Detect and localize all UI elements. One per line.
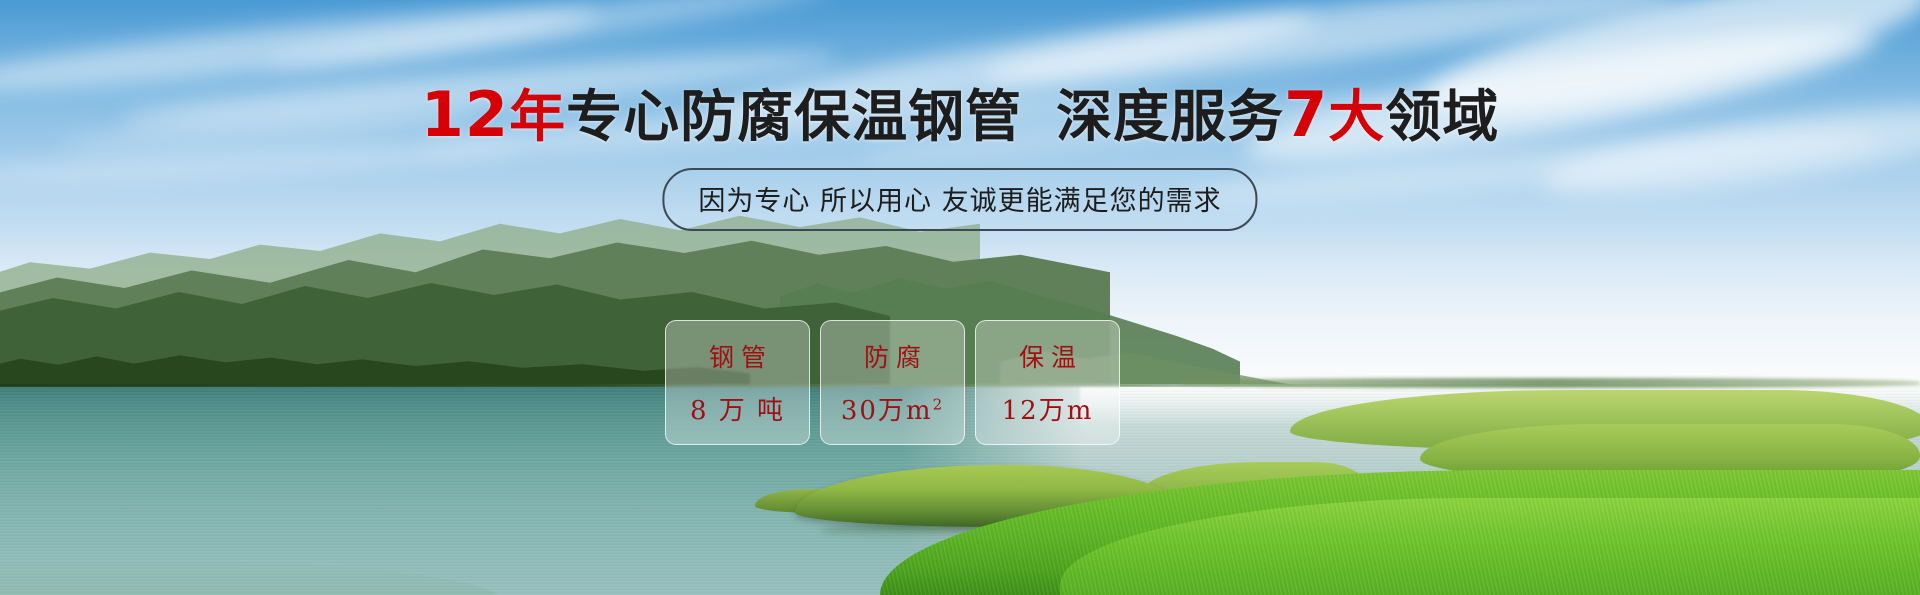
stat-card-insulation: 保温 12万m xyxy=(975,320,1120,445)
tagline-pill: 因为专心 所以用心 友诚更能满足您的需求 xyxy=(662,168,1257,231)
stat-card-anticorrosion: 防腐 30万m2 xyxy=(820,320,965,445)
headline-years-number: 12 xyxy=(421,78,509,151)
stat-card-title: 防腐 xyxy=(857,338,928,374)
stats-card-group: 钢管 8 万 吨 防腐 30万m2 保温 12万m xyxy=(665,320,1120,445)
promotional-banner: 12年专心防腐保温钢管深度服务7大领域 因为专心 所以用心 友诚更能满足您的需求… xyxy=(0,0,1920,595)
headline-fields-unit: 大 xyxy=(1328,85,1385,150)
stat-card-title: 钢管 xyxy=(702,338,773,374)
stat-card-value: 8 万 吨 xyxy=(690,390,785,427)
headline-segment-3: 领域 xyxy=(1385,85,1499,150)
stat-card-steel-pipe: 钢管 8 万 吨 xyxy=(665,320,810,445)
stat-card-value: 30万m2 xyxy=(841,390,944,427)
headline: 12年专心防腐保温钢管深度服务7大领域 xyxy=(0,84,1920,146)
stat-card-value: 12万m xyxy=(1002,390,1094,427)
stat-card-value-superscript: 2 xyxy=(933,395,945,413)
banner-content: 12年专心防腐保温钢管深度服务7大领域 因为专心 所以用心 友诚更能满足您的需求… xyxy=(0,0,1920,595)
stat-card-value-base: 30万m xyxy=(841,396,933,426)
headline-fields-number: 7 xyxy=(1284,78,1328,151)
headline-segment-1: 专心防腐保温钢管 xyxy=(566,85,1022,150)
headline-segment-2: 深度服务 xyxy=(1056,85,1284,150)
stat-card-title: 保温 xyxy=(1012,338,1083,374)
headline-years-unit: 年 xyxy=(509,85,566,150)
